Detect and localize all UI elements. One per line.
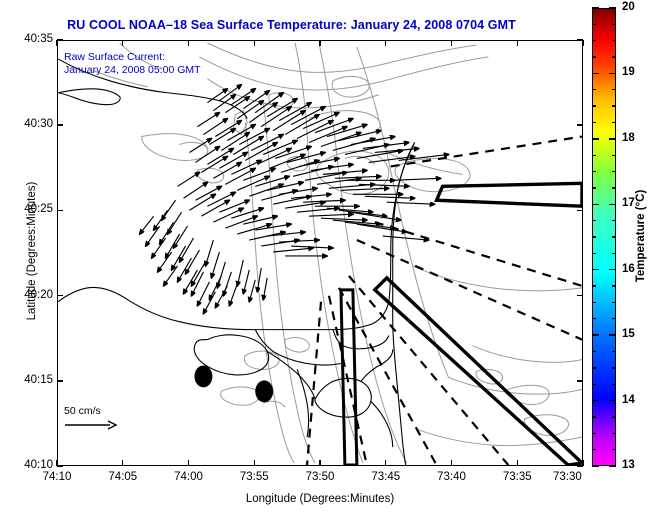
colorbar-tick-label: 15 — [622, 328, 635, 340]
y-tick-mark — [57, 210, 63, 211]
colorbar-tick-mark — [612, 302, 616, 303]
y-tick-mark-right — [577, 380, 583, 381]
colorbar-tick-mark — [592, 24, 596, 25]
y-axis-title: Latitude (Degrees:Minutes) — [26, 141, 38, 361]
station-marker-layer — [194, 365, 273, 402]
surface-current-vector-layer — [140, 85, 449, 314]
sst-map-figure: RU COOL NOAA–18 Sea Surface Temperature:… — [0, 0, 651, 518]
x-tick-mark — [517, 460, 518, 466]
y-tick-mark — [57, 465, 63, 466]
colorbar-tick-mark — [609, 138, 616, 139]
map-plot-area: Raw Surface Current: January 24, 2008 05… — [57, 40, 583, 466]
x-tick-mark-top — [188, 40, 189, 46]
colorbar-tick-label: 14 — [622, 394, 635, 406]
colorbar-tick-mark — [612, 56, 616, 57]
map-canvas — [58, 41, 582, 465]
colorbar-tick-mark — [592, 318, 596, 319]
y-tick-mark — [57, 124, 63, 125]
colorbar-tick-mark — [609, 7, 616, 8]
colorbar-tick-mark — [612, 449, 616, 450]
x-tick-mark — [385, 460, 386, 466]
station-marker — [255, 380, 273, 402]
colorbar-tick-mark — [592, 155, 596, 156]
colorbar-tick-mark — [592, 367, 596, 368]
colorbar-tick-mark — [592, 220, 596, 221]
colorbar-tick-mark — [612, 122, 616, 123]
colorbar-tick-mark — [592, 285, 596, 286]
colorbar-tick-label: 19 — [622, 66, 635, 78]
y-tick-mark-right — [577, 210, 583, 211]
colorbar-tick-label: 20 — [622, 1, 635, 13]
colorbar-tick-mark — [612, 155, 616, 156]
colorbar-tick-mark — [592, 7, 599, 8]
colorbar-tick-mark — [592, 302, 596, 303]
x-tick-mark-top — [319, 40, 320, 46]
colorbar-tick-mark — [592, 449, 596, 450]
colorbar-tick-mark — [609, 73, 616, 74]
y-tick-label: 40:15 — [3, 374, 53, 386]
x-tick-label: 73:40 — [421, 471, 481, 483]
y-tick-mark-right — [577, 295, 583, 296]
colorbar-tick-mark — [592, 56, 596, 57]
colorbar-tick-label: 16 — [622, 263, 635, 275]
colorbar-tick-mark — [612, 171, 616, 172]
colorbar-tick-mark — [609, 465, 616, 466]
colorbar-tick-mark — [609, 204, 616, 205]
x-tick-label: 74:00 — [159, 471, 219, 483]
annotation-line-2: January 24, 2008 05:00 GMT — [64, 64, 201, 77]
colorbar-tick-mark — [592, 236, 596, 237]
colorbar-tick-mark — [592, 40, 596, 41]
colorbar-tick-mark — [609, 334, 616, 335]
colorbar-tick-mark — [612, 367, 616, 368]
colorbar-tick-mark — [592, 400, 599, 401]
colorbar-tick-mark — [592, 351, 596, 352]
x-tick-label: 73:35 — [487, 471, 547, 483]
y-tick-mark-right — [577, 465, 583, 466]
colorbar-tick-mark — [592, 73, 599, 74]
colorbar-tick-mark — [592, 187, 596, 188]
vector-scale-legend: 50 cm/s — [64, 405, 118, 434]
colorbar-tick-mark — [612, 351, 616, 352]
y-tick-mark — [57, 380, 63, 381]
colorbar-tick-mark — [609, 400, 616, 401]
y-tick-label: 40:10 — [3, 459, 53, 471]
x-tick-label: 74:05 — [93, 471, 153, 483]
colorbar-tick-mark — [612, 236, 616, 237]
x-tick-mark-top — [385, 40, 386, 46]
x-tick-mark-top — [582, 40, 583, 46]
y-tick-mark — [57, 39, 63, 40]
sst-contour-layer — [94, 43, 582, 463]
colorbar-tick-mark — [592, 416, 596, 417]
x-tick-mark-top — [254, 40, 255, 46]
x-tick-mark — [319, 460, 320, 466]
colorbar-tick-label: 13 — [622, 459, 635, 471]
x-tick-mark — [188, 460, 189, 466]
colorbar-tick-mark — [612, 220, 616, 221]
y-tick-mark — [57, 295, 63, 296]
colorbar-tick-mark — [612, 318, 616, 319]
colorbar-tick-mark — [592, 334, 599, 335]
station-marker — [194, 365, 212, 387]
colorbar-tick-mark — [592, 269, 599, 270]
x-tick-mark-top — [517, 40, 518, 46]
x-tick-label: 73:45 — [356, 471, 416, 483]
colorbar-tick-mark — [612, 89, 616, 90]
x-tick-label: 73:55 — [224, 471, 284, 483]
y-tick-label: 40:30 — [3, 118, 53, 130]
y-tick-mark-right — [577, 39, 583, 40]
colorbar-tick-mark — [592, 465, 599, 466]
colorbar-tick-mark — [592, 171, 596, 172]
vector-scale-label: 50 cm/s — [64, 405, 101, 417]
colorbar-tick-mark — [612, 253, 616, 254]
x-tick-mark — [254, 460, 255, 466]
colorbar-tick-label: 17 — [622, 197, 635, 209]
colorbar-tick-mark — [612, 433, 616, 434]
colorbar-tick-mark — [592, 253, 596, 254]
colorbar-tick-mark — [592, 433, 596, 434]
colorbar-tick-mark — [612, 416, 616, 417]
x-tick-label: 74:10 — [27, 471, 87, 483]
annotation-line-1: Raw Surface Current: — [64, 51, 165, 64]
x-tick-label: 73:50 — [290, 471, 350, 483]
colorbar-tick-mark — [612, 285, 616, 286]
colorbar-tick-mark — [592, 138, 599, 139]
x-tick-label: 73:30 — [553, 471, 599, 483]
x-tick-mark — [122, 460, 123, 466]
colorbar-tick-mark — [592, 204, 599, 205]
colorbar-tick-mark — [612, 24, 616, 25]
colorbar-tick-mark — [592, 122, 596, 123]
colorbar-tick-mark — [592, 384, 596, 385]
colorbar-tick-mark — [612, 40, 616, 41]
figure-title: RU COOL NOAA–18 Sea Surface Temperature:… — [0, 18, 583, 32]
x-axis-title: Longitude (Degrees:Minutes) — [57, 493, 583, 505]
colorbar-tick-mark — [612, 105, 616, 106]
colorbar-title: Temperature (°C) — [635, 146, 647, 326]
x-tick-mark-top — [122, 40, 123, 46]
colorbar-tick-mark — [609, 269, 616, 270]
colorbar-tick-mark — [592, 105, 596, 106]
colorbar-tick-label: 18 — [622, 132, 635, 144]
y-tick-mark-right — [577, 124, 583, 125]
right-arrow-icon — [64, 419, 118, 434]
colorbar-tick-mark — [592, 89, 596, 90]
x-tick-mark — [451, 460, 452, 466]
x-tick-mark-top — [451, 40, 452, 46]
x-tick-mark-top — [56, 40, 57, 46]
colorbar-tick-mark — [612, 384, 616, 385]
y-tick-label: 40:35 — [3, 33, 53, 45]
colorbar-tick-mark — [612, 187, 616, 188]
